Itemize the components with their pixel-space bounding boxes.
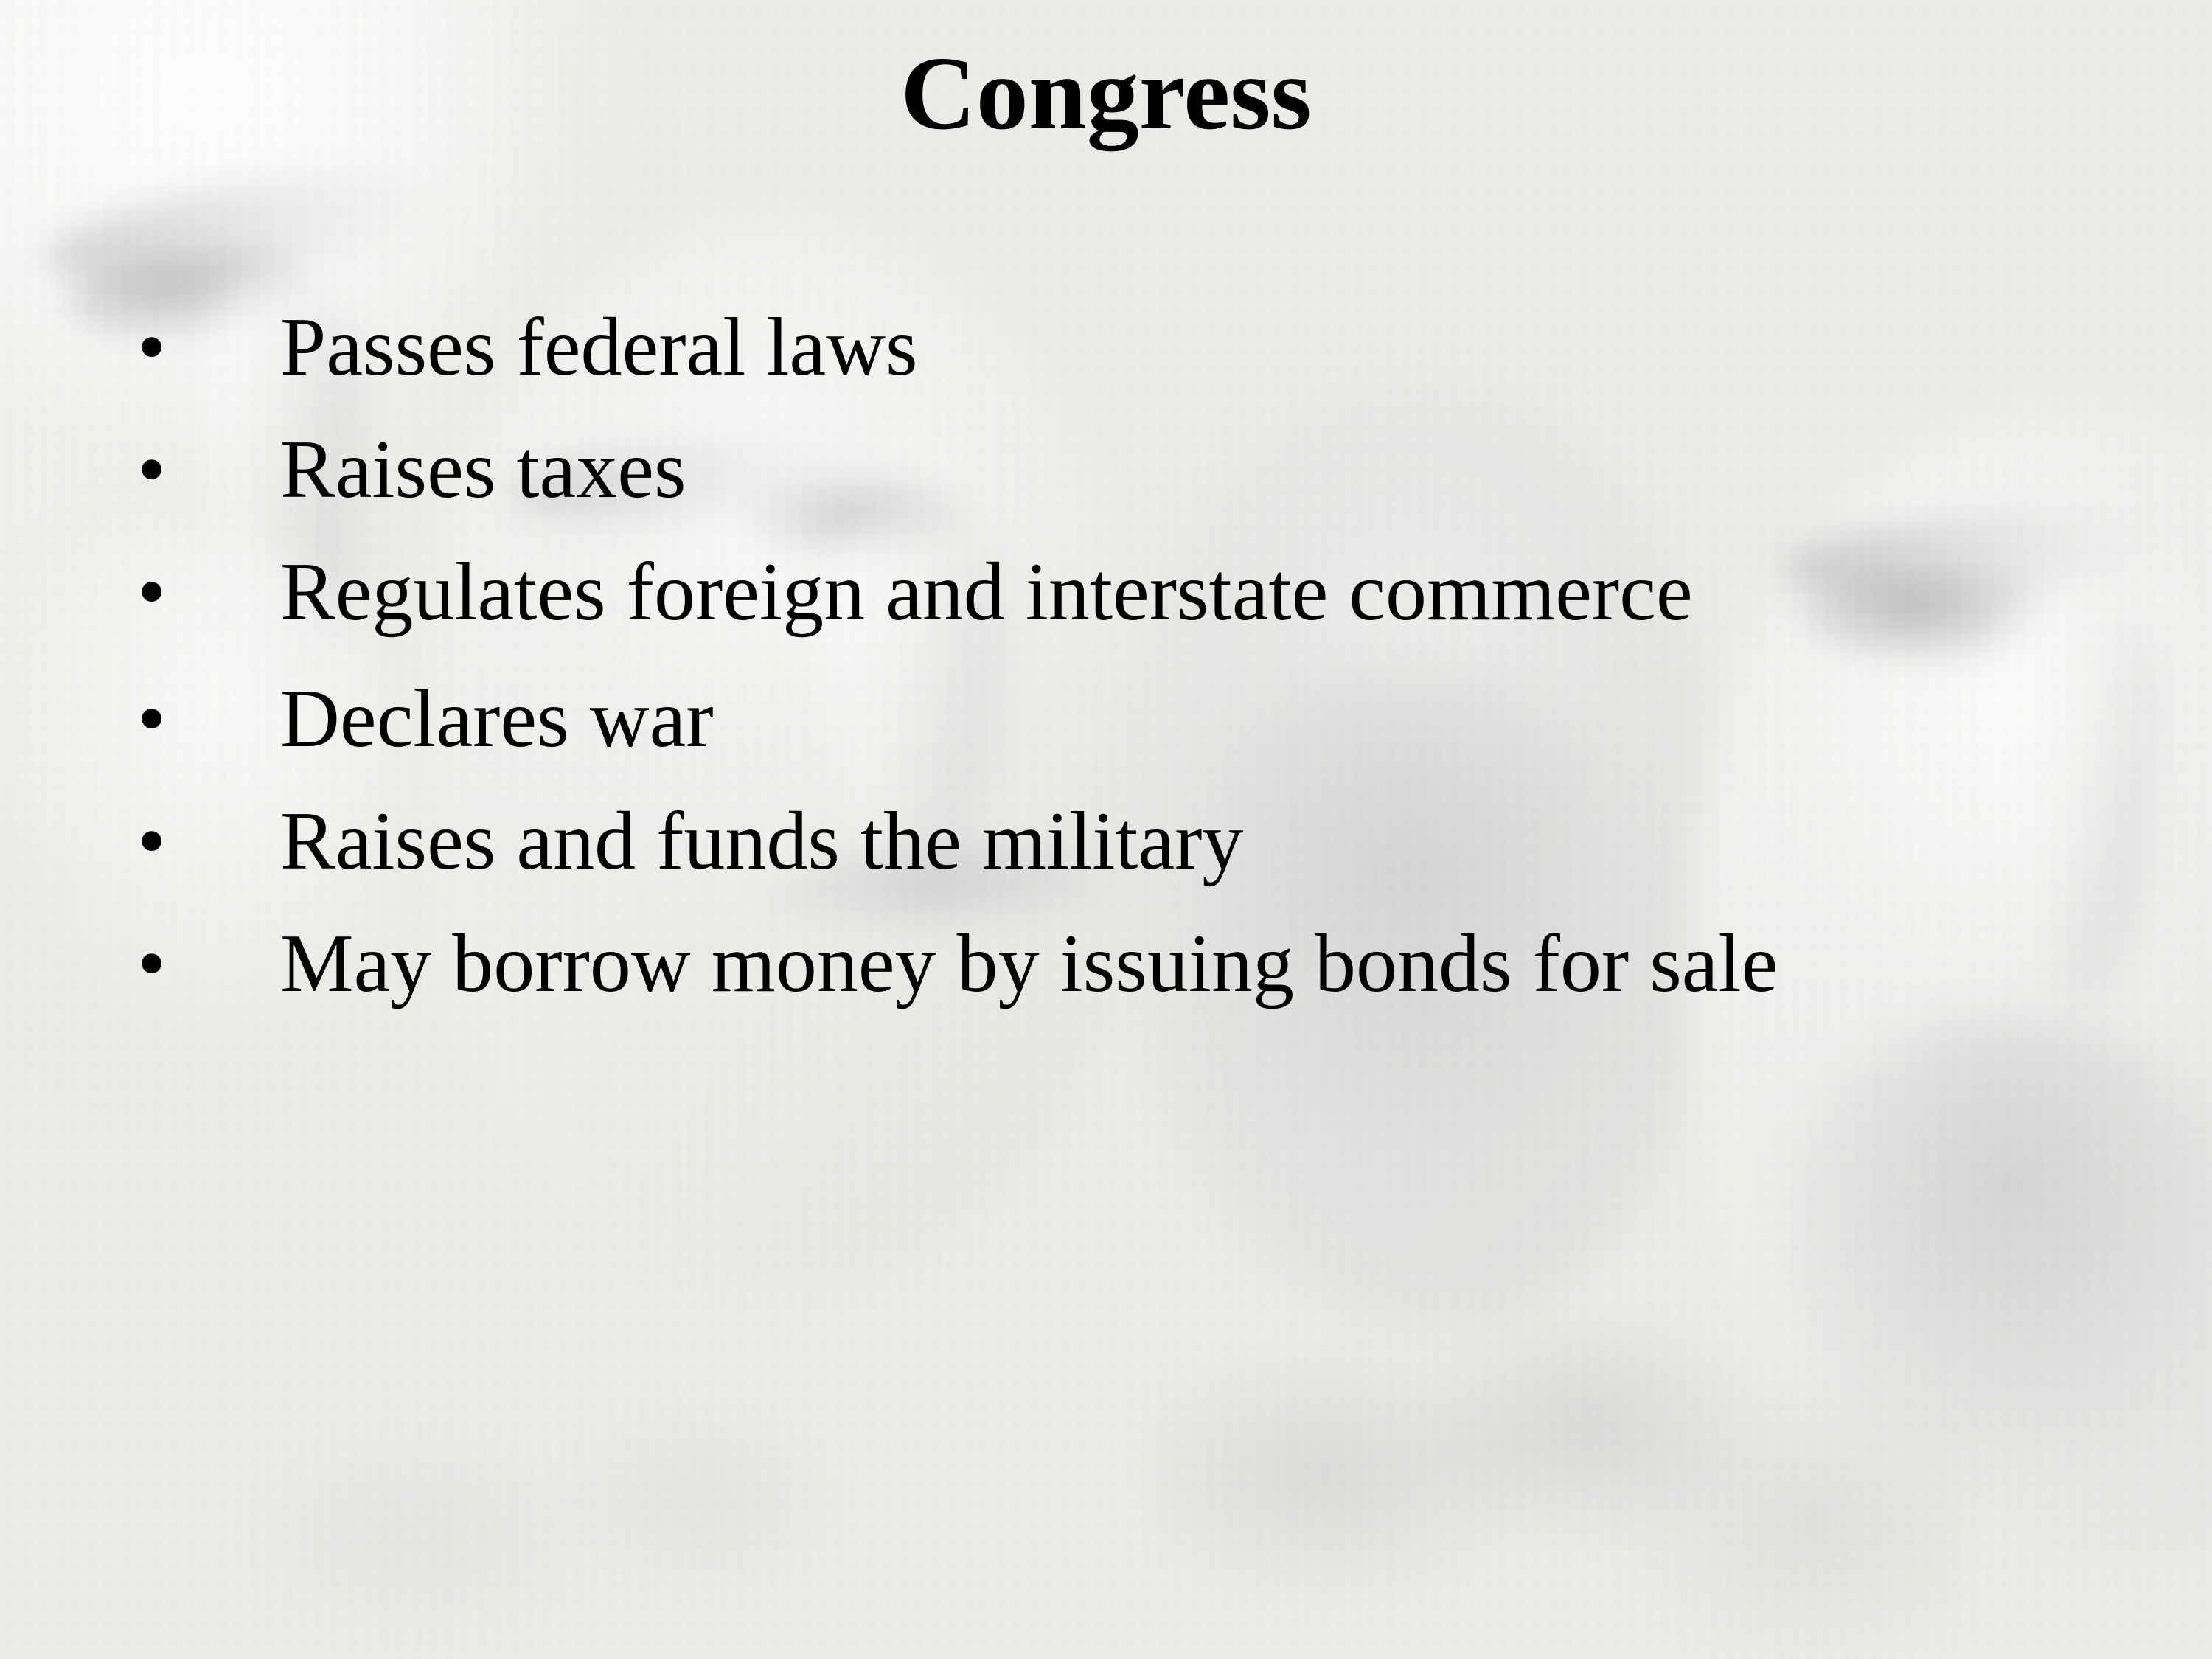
slide-bullet-list: • Passes federal laws • Raises taxes • R… bbox=[111, 299, 2146, 1042]
list-item: • Passes federal laws bbox=[111, 299, 2146, 396]
bullet-point-icon: • bbox=[111, 670, 280, 768]
slide-title: Congress bbox=[0, 38, 2212, 148]
list-item: • Regulates foreign and interstate comme… bbox=[111, 543, 2146, 641]
slide-content: Congress • Passes federal laws • Raises … bbox=[0, 0, 2212, 1659]
list-item-text: Raises taxes bbox=[280, 421, 1976, 518]
list-item: • Declares war bbox=[111, 670, 2146, 768]
list-item: • May borrow money by issuing bonds for … bbox=[111, 915, 2146, 1012]
bullet-point-icon: • bbox=[111, 421, 280, 518]
bullet-point-icon: • bbox=[111, 915, 280, 1012]
list-item: • Raises taxes bbox=[111, 421, 2146, 518]
list-item-text: May borrow money by issuing bonds for sa… bbox=[280, 915, 1976, 1012]
presentation-slide: Congress • Passes federal laws • Raises … bbox=[0, 0, 2212, 1659]
list-item: • Raises and funds the military bbox=[111, 793, 2146, 890]
bullet-point-icon: • bbox=[111, 543, 280, 641]
list-item-text: Declares war bbox=[280, 670, 1976, 768]
bullet-point-icon: • bbox=[111, 299, 280, 396]
list-item-text: Passes federal laws bbox=[280, 299, 1976, 396]
list-item-text: Raises and funds the military bbox=[280, 793, 1976, 890]
bullet-point-icon: • bbox=[111, 793, 280, 890]
list-item-text: Regulates foreign and interstate commerc… bbox=[280, 543, 1976, 641]
